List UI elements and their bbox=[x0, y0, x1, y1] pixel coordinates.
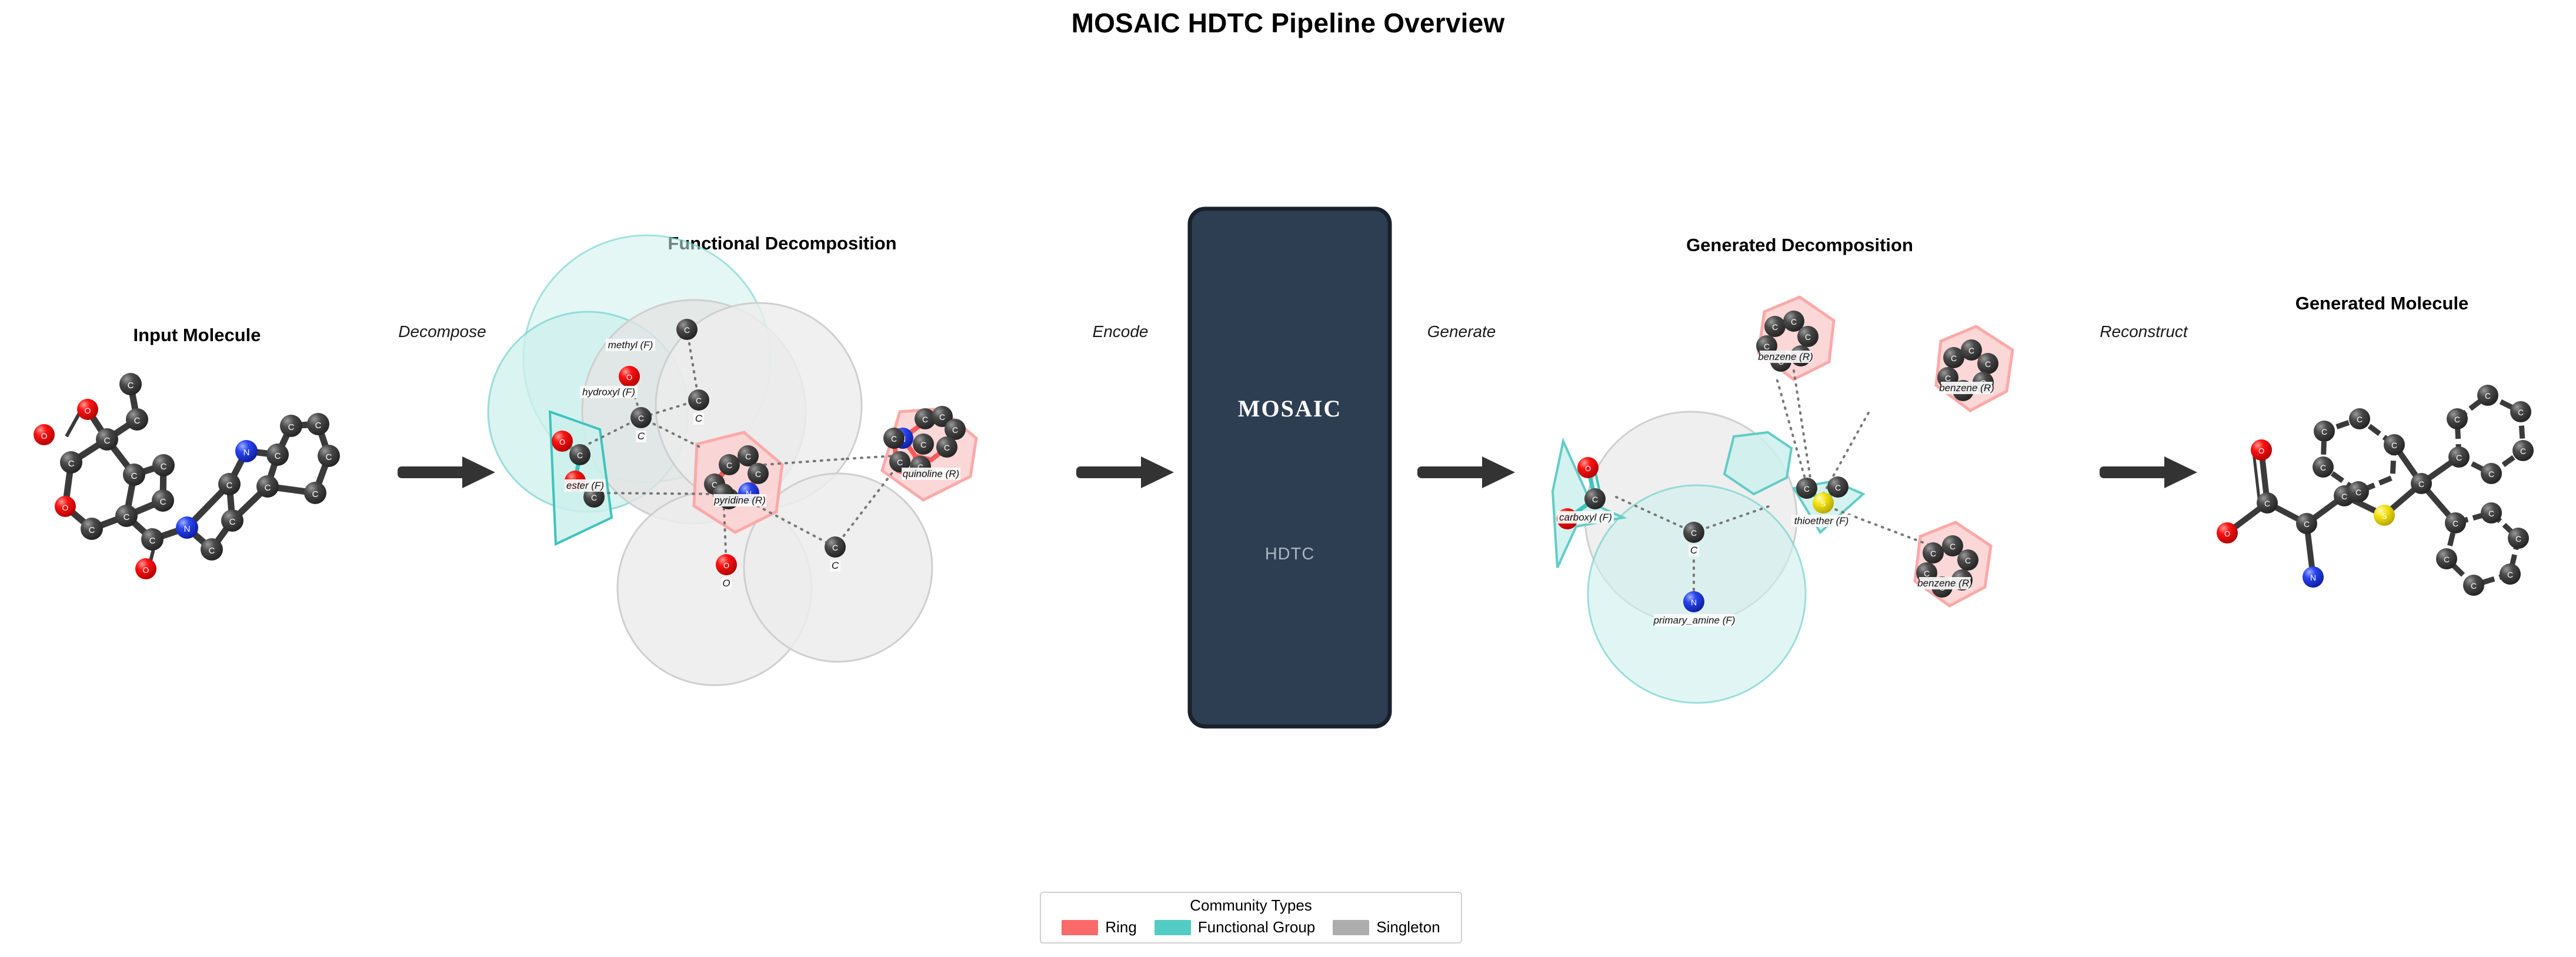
legend-item-functional-group[interactable]: Functional Group bbox=[1154, 918, 1315, 936]
legend-title: Community Types bbox=[1041, 893, 1461, 915]
svg-text:C: C bbox=[2488, 469, 2494, 479]
svg-text:C: C bbox=[2304, 519, 2310, 529]
svg-text:O: O bbox=[2258, 446, 2264, 455]
svg-text:N: N bbox=[2310, 573, 2316, 582]
svg-text:C: C bbox=[2520, 446, 2526, 456]
figure-canvas: MOSAIC HDTC Pipeline Overview Input Mole… bbox=[0, 0, 2576, 957]
legend-swatch-functional-group bbox=[1154, 920, 1191, 935]
legend-community-types: Community Types Ring Functional Group Si… bbox=[1040, 892, 1462, 943]
svg-text:C: C bbox=[2507, 570, 2513, 579]
legend-label-ring: Ring bbox=[1105, 918, 1136, 936]
svg-text:C: C bbox=[2391, 441, 2397, 450]
svg-text:C: C bbox=[2456, 453, 2462, 462]
svg-text:C: C bbox=[2264, 499, 2270, 508]
svg-text:C: C bbox=[2341, 492, 2347, 501]
svg-text:C: C bbox=[2444, 555, 2450, 564]
svg-text:C: C bbox=[2418, 479, 2424, 489]
legend-label-singleton: Singleton bbox=[1376, 918, 1440, 936]
legend-label-functional-group: Functional Group bbox=[1198, 918, 1315, 936]
svg-text:O: O bbox=[2224, 529, 2230, 538]
svg-text:C: C bbox=[2488, 509, 2494, 518]
legend-item-singleton[interactable]: Singleton bbox=[1333, 918, 1440, 936]
svg-text:C: C bbox=[2452, 519, 2458, 528]
svg-text:C: C bbox=[2518, 408, 2524, 417]
svg-text:C: C bbox=[2321, 427, 2327, 436]
legend-item-ring[interactable]: Ring bbox=[1062, 918, 1136, 936]
svg-text:C: C bbox=[2320, 463, 2326, 472]
legend-swatch-singleton bbox=[1333, 920, 1369, 935]
svg-text:C: C bbox=[2357, 415, 2363, 424]
svg-text:C: C bbox=[2515, 534, 2521, 543]
svg-text:S: S bbox=[2382, 512, 2387, 521]
svg-text:C: C bbox=[2355, 488, 2361, 497]
svg-text:C: C bbox=[2471, 581, 2477, 591]
svg-text:C: C bbox=[2454, 415, 2460, 424]
svg-text:C: C bbox=[2485, 391, 2491, 401]
legend-swatch-ring bbox=[1062, 920, 1098, 935]
generated-molecule-graphic: O C O C N C S C C C C C C C C C C C C C … bbox=[0, 0, 2576, 957]
